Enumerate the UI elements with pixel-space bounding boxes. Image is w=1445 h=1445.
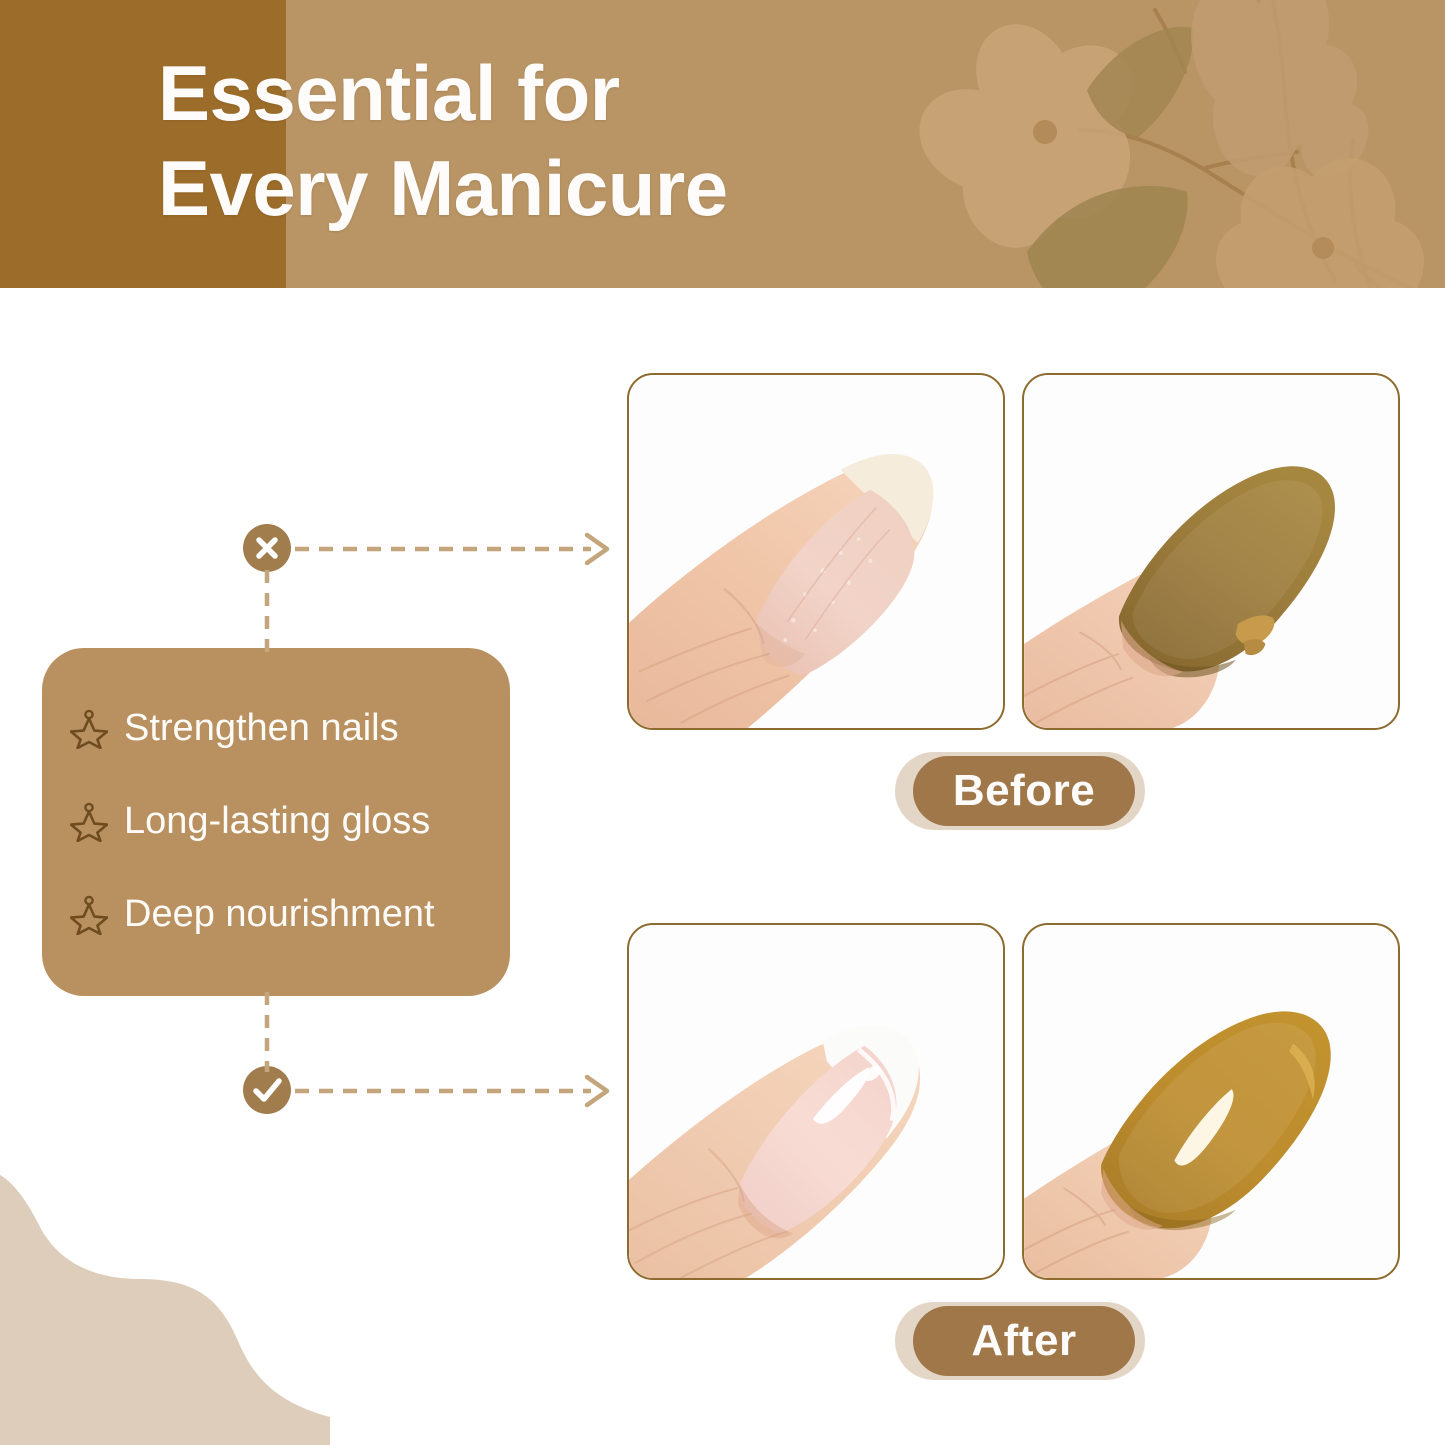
cross-marker — [243, 524, 291, 572]
photo-card-before-natural-nail — [627, 373, 1005, 730]
badge-after: After — [895, 1302, 1145, 1380]
photo-card-after-french-manicure — [627, 923, 1005, 1280]
connector-arrow-after — [291, 1068, 621, 1114]
badge-before: Before — [895, 752, 1145, 830]
bare-natural-nail-photo — [629, 375, 1003, 728]
glossy-caramel-nail-photo — [1024, 925, 1398, 1278]
botanical-decoration-icon — [905, 0, 1445, 288]
matte-chipped-polish-photo — [1024, 375, 1398, 728]
badge-before-label: Before — [913, 756, 1135, 826]
connector-arrow-before — [291, 526, 621, 572]
star-outline-icon — [70, 895, 108, 935]
check-marker — [243, 1066, 291, 1114]
star-outline-icon — [70, 709, 108, 749]
feature-item-strengthen: Strengthen nails — [70, 708, 480, 750]
badge-after-label: After — [913, 1306, 1135, 1376]
check-icon — [243, 1066, 291, 1114]
feature-label-gloss: Long-lasting gloss — [124, 801, 430, 843]
feature-item-gloss: Long-lasting gloss — [70, 801, 480, 843]
connector-vertical-top — [255, 570, 279, 652]
connector-vertical-bottom — [255, 992, 279, 1072]
photo-card-before-chipped-polish — [1022, 373, 1400, 730]
feature-label-strengthen: Strengthen nails — [124, 708, 399, 750]
corner-blob-decoration — [0, 1175, 330, 1445]
promo-page: Before After Strengthen nails Long-lasti… — [0, 0, 1445, 1445]
feature-label-nourishment: Deep nourishment — [124, 894, 435, 936]
feature-item-nourishment: Deep nourishment — [70, 894, 480, 936]
glossy-french-manicure-photo — [629, 925, 1003, 1278]
feature-list-card: Strengthen nails Long-lasting gloss Deep… — [42, 648, 510, 996]
page-title: Essential for Every Manicure — [158, 46, 938, 236]
cross-icon — [243, 524, 291, 572]
photo-card-after-glossy-polish — [1022, 923, 1400, 1280]
star-outline-icon — [70, 802, 108, 842]
